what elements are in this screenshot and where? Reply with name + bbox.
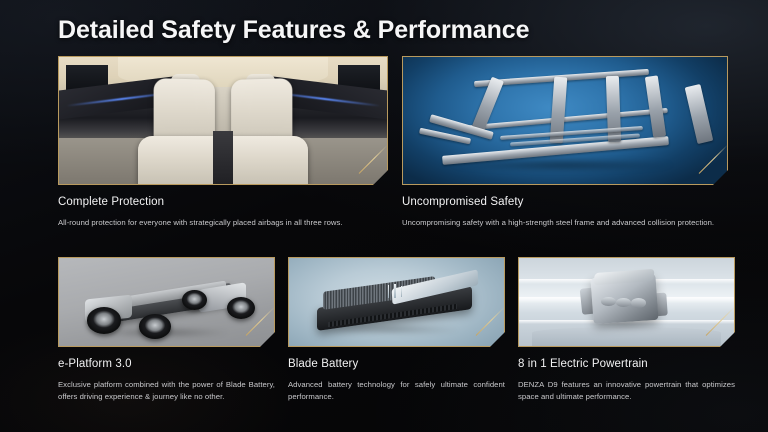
card-uncompromised-safety[interactable]: Uncompromised Safety Uncompromising safe…	[402, 56, 728, 229]
card-electric-powertrain[interactable]: 8 in 1 Electric Powertrain DENZA D9 feat…	[518, 257, 735, 404]
card-image-blade-battery	[288, 257, 505, 347]
card-body: Advanced battery technology for safely u…	[288, 379, 505, 404]
card-body: Uncompromising safety with a high-streng…	[402, 217, 728, 229]
card-title: Blade Battery	[288, 358, 505, 370]
card-title: e-Platform 3.0	[58, 358, 275, 370]
card-image-e-platform	[58, 257, 275, 347]
card-e-platform[interactable]: e-Platform 3.0 Exclusive platform combin…	[58, 257, 275, 404]
blade-battery-illustration	[289, 258, 504, 346]
card-image-steel-frame	[402, 56, 728, 185]
steel-body-frame-illustration	[403, 57, 727, 184]
card-body: Exclusive platform combined with the pow…	[58, 379, 275, 404]
card-title: Uncompromised Safety	[402, 196, 728, 208]
slide-root: Detailed Safety Features & Performance	[0, 0, 768, 432]
card-body: DENZA D9 features an innovative powertra…	[518, 379, 735, 404]
card-complete-protection[interactable]: Complete Protection All-round protection…	[58, 56, 388, 229]
car-interior-illustration	[59, 57, 387, 184]
skateboard-chassis-illustration	[59, 258, 274, 346]
card-blade-battery[interactable]: Blade Battery Advanced battery technolog…	[288, 257, 505, 404]
card-image-car-interior	[58, 56, 388, 185]
card-body: All-round protection for everyone with s…	[58, 217, 388, 229]
electric-powertrain-illustration	[519, 258, 734, 346]
card-title: Complete Protection	[58, 196, 388, 208]
card-title: 8 in 1 Electric Powertrain	[518, 358, 735, 370]
card-image-powertrain	[518, 257, 735, 347]
page-title: Detailed Safety Features & Performance	[58, 16, 529, 45]
